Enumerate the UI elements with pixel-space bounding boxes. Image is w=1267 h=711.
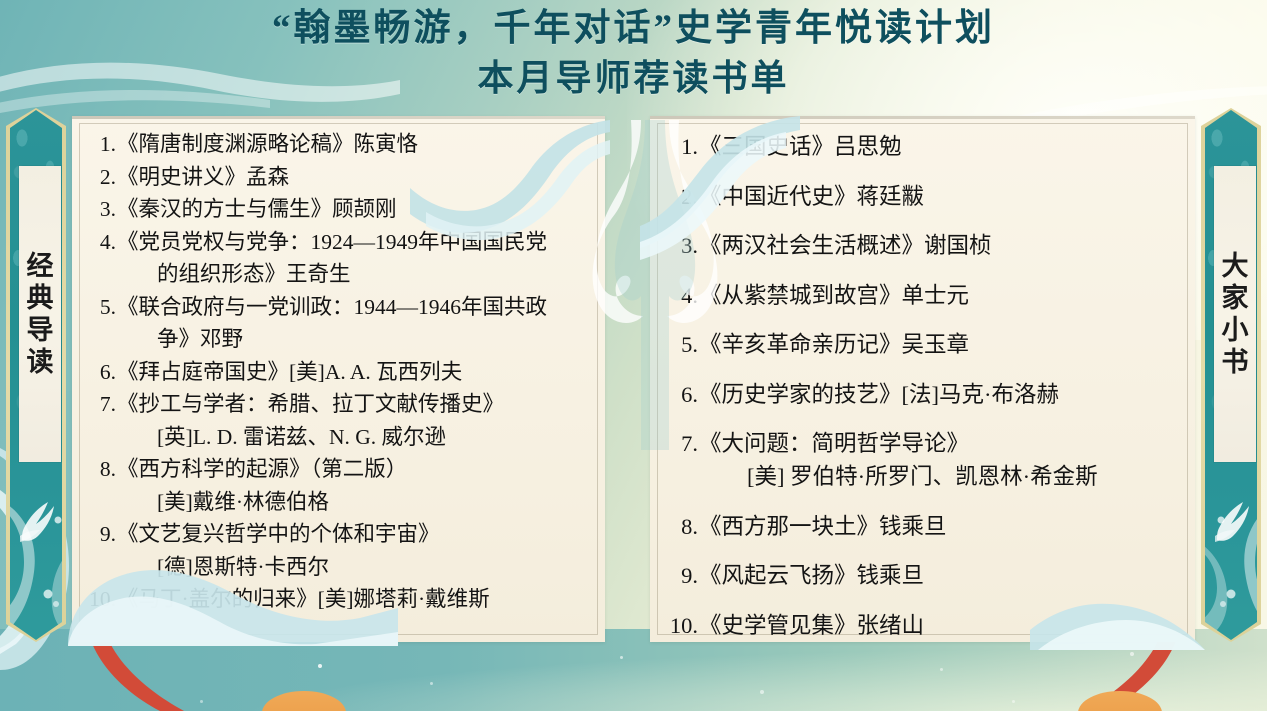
book-title-wrap: 《抄工与学者：希腊、拉丁文献传播史》[英]L. D. 雷诺兹、N. G. 威尔逊 bbox=[117, 388, 593, 453]
book-title: 《历史学家的技艺》[法]马克·布洛赫 bbox=[699, 382, 1059, 407]
right-banner-char-1: 大 bbox=[1222, 253, 1249, 280]
book-title-wrap: 《西方那一块土》钱乘旦 bbox=[699, 510, 1183, 543]
book-title: 《大问题：简明哲学导论》 bbox=[699, 431, 969, 456]
book-title-wrap: 《辛亥革命亲历记》吴玉章 bbox=[699, 328, 1183, 361]
book-index: 10. bbox=[664, 609, 698, 642]
book-index: 8. bbox=[664, 510, 698, 543]
right-banner-plaque: 大 家 小 书 bbox=[1214, 166, 1256, 462]
book-title: 《拜占庭帝国史》[美]A. A. 瓦西列夫 bbox=[117, 360, 462, 384]
book-index: 5. bbox=[664, 328, 698, 361]
book-title-wrap: 《西方科学的起源》（第二版）[美]戴维·林德伯格 bbox=[117, 453, 593, 518]
book-list-item: 10.《马丁·盖尔的归来》[美]娜塔莉·戴维斯 bbox=[86, 583, 593, 616]
book-title: 《马丁·盖尔的归来》[美]娜塔莉·戴维斯 bbox=[117, 587, 490, 611]
book-title: 《文艺复兴哲学中的个体和宇宙》 bbox=[117, 522, 440, 546]
book-index: 6. bbox=[86, 356, 116, 389]
left-book-panel: 1.《隋唐制度渊源略论稿》陈寅恪2.《明史讲义》孟森3.《秦汉的方士与儒生》顾颉… bbox=[72, 116, 605, 642]
book-title-wrap: 《秦汉的方士与儒生》顾颉刚 bbox=[117, 193, 593, 226]
book-index: 4. bbox=[664, 279, 698, 312]
book-title-continuation: 争》邓野 bbox=[117, 323, 593, 356]
book-title-wrap: 《史学管见集》张绪山 bbox=[699, 609, 1183, 642]
book-list-item: 8.《西方科学的起源》（第二版）[美]戴维·林德伯格 bbox=[86, 453, 593, 518]
book-list-item: 5.《联合政府与一党训政：1944—1946年国共政争》邓野 bbox=[86, 291, 593, 356]
book-title: 《秦汉的方士与儒生》顾颉刚 bbox=[117, 197, 397, 221]
book-title: 《风起云飞扬》钱乘旦 bbox=[699, 563, 924, 588]
book-index: 4. bbox=[86, 226, 116, 291]
book-index: 2. bbox=[86, 161, 116, 194]
book-title: 《史学管见集》张绪山 bbox=[699, 613, 924, 638]
right-book-list: 1.《三国史话》吕思勉2.《中国近代史》蒋廷黻3.《两汉社会生活概述》谢国桢4.… bbox=[664, 130, 1183, 634]
left-banner-char-4: 读 bbox=[27, 349, 54, 376]
book-list-item: 7.《抄工与学者：希腊、拉丁文献传播史》[英]L. D. 雷诺兹、N. G. 威… bbox=[86, 388, 593, 453]
book-list-item: 6.《拜占庭帝国史》[美]A. A. 瓦西列夫 bbox=[86, 356, 593, 389]
right-section-banner: 大 家 小 书 bbox=[1201, 108, 1261, 642]
right-banner-char-4: 书 bbox=[1222, 349, 1249, 376]
book-title: 《西方科学的起源》（第二版） bbox=[117, 457, 407, 481]
book-index: 6. bbox=[664, 378, 698, 411]
book-list-item: 9.《风起云飞扬》钱乘旦 bbox=[664, 559, 1183, 592]
book-title: 《党员党权与党争：1924—1949年中国国民党 bbox=[117, 230, 547, 254]
book-title-continuation: 的组织形态》王奇生 bbox=[117, 258, 593, 291]
right-banner-teal-body: 大 家 小 书 bbox=[1205, 108, 1257, 642]
book-index: 3. bbox=[86, 193, 116, 226]
book-list-item: 7.《大问题：简明哲学导论》[美] 罗伯特·所罗门、凯恩林·希金斯 bbox=[664, 427, 1183, 493]
left-section-banner: 经 典 导 读 bbox=[6, 108, 66, 642]
book-title: 《中国近代史》蒋廷黻 bbox=[699, 184, 924, 209]
book-title-wrap: 《文艺复兴哲学中的个体和宇宙》[德]恩斯特·卡西尔 bbox=[117, 518, 593, 583]
left-book-list: 1.《隋唐制度渊源略论稿》陈寅恪2.《明史讲义》孟森3.《秦汉的方士与儒生》顾颉… bbox=[86, 128, 593, 634]
book-index: 9. bbox=[664, 559, 698, 592]
book-title: 《辛亥革命亲历记》吴玉章 bbox=[699, 332, 969, 357]
right-panel-top-rule bbox=[650, 116, 1195, 119]
book-list-item: 1.《三国史话》吕思勉 bbox=[664, 130, 1183, 163]
right-banner-char-3: 小 bbox=[1222, 317, 1249, 344]
book-title-continuation: [美]戴维·林德伯格 bbox=[117, 486, 593, 519]
book-title: 《联合政府与一党训政：1944—1946年国共政 bbox=[117, 295, 547, 319]
book-title: 《抄工与学者：希腊、拉丁文献传播史》 bbox=[117, 392, 504, 416]
book-index: 3. bbox=[664, 229, 698, 262]
book-title-wrap: 《中国近代史》蒋廷黻 bbox=[699, 180, 1183, 213]
book-list-item: 3.《秦汉的方士与儒生》顾颉刚 bbox=[86, 193, 593, 226]
poster-title: “翰墨畅游，千年对话”史学青年悦读计划 本月导师荐读书单 bbox=[0, 4, 1267, 102]
left-banner-plaque: 经 典 导 读 bbox=[19, 166, 61, 462]
book-list-item: 3.《两汉社会生活概述》谢国桢 bbox=[664, 229, 1183, 262]
book-title-wrap: 《马丁·盖尔的归来》[美]娜塔莉·戴维斯 bbox=[117, 583, 593, 616]
title-line-1: “翰墨畅游，千年对话”史学青年悦读计划 bbox=[0, 4, 1267, 54]
left-banner-char-1: 经 bbox=[27, 253, 54, 280]
book-title-wrap: 《风起云飞扬》钱乘旦 bbox=[699, 559, 1183, 592]
book-title-wrap: 《明史讲义》孟森 bbox=[117, 161, 593, 194]
book-list-item: 6.《历史学家的技艺》[法]马克·布洛赫 bbox=[664, 378, 1183, 411]
book-title-wrap: 《党员党权与党争：1924—1949年中国国民党的组织形态》王奇生 bbox=[117, 226, 593, 291]
book-title: 《从紫禁城到故宫》单士元 bbox=[699, 283, 969, 308]
right-banner-char-2: 家 bbox=[1222, 285, 1249, 312]
book-title: 《三国史话》吕思勉 bbox=[699, 134, 902, 159]
book-title: 《西方那一块土》钱乘旦 bbox=[699, 514, 947, 539]
book-index: 10. bbox=[86, 583, 116, 616]
poster-root: “翰墨畅游，千年对话”史学青年悦读计划 本月导师荐读书单 经 典 导 读 bbox=[0, 0, 1267, 711]
book-index: 1. bbox=[86, 128, 116, 161]
book-list-item: 8.《西方那一块土》钱乘旦 bbox=[664, 510, 1183, 543]
book-title-wrap: 《大问题：简明哲学导论》[美] 罗伯特·所罗门、凯恩林·希金斯 bbox=[699, 427, 1183, 493]
right-book-panel: 1.《三国史话》吕思勉2.《中国近代史》蒋廷黻3.《两汉社会生活概述》谢国桢4.… bbox=[650, 116, 1195, 642]
book-list-item: 2.《中国近代史》蒋廷黻 bbox=[664, 180, 1183, 213]
book-list-item: 2.《明史讲义》孟森 bbox=[86, 161, 593, 194]
right-banner-wave-decor bbox=[1205, 472, 1257, 642]
book-index: 9. bbox=[86, 518, 116, 583]
book-list-item: 4.《从紫禁城到故宫》单士元 bbox=[664, 279, 1183, 312]
book-title-continuation: [美] 罗伯特·所罗门、凯恩林·希金斯 bbox=[699, 460, 1183, 493]
book-index: 1. bbox=[664, 130, 698, 163]
book-title: 《两汉社会生活概述》谢国桢 bbox=[699, 233, 992, 258]
book-list-item: 10.《史学管见集》张绪山 bbox=[664, 609, 1183, 642]
book-title-wrap: 《历史学家的技艺》[法]马克·布洛赫 bbox=[699, 378, 1183, 411]
book-list-item: 1.《隋唐制度渊源略论稿》陈寅恪 bbox=[86, 128, 593, 161]
book-title-continuation: [英]L. D. 雷诺兹、N. G. 威尔逊 bbox=[117, 421, 593, 454]
book-list-item: 9.《文艺复兴哲学中的个体和宇宙》[德]恩斯特·卡西尔 bbox=[86, 518, 593, 583]
book-title-continuation: [德]恩斯特·卡西尔 bbox=[117, 551, 593, 584]
book-index: 2. bbox=[664, 180, 698, 213]
book-title: 《明史讲义》孟森 bbox=[117, 165, 289, 189]
book-title-wrap: 《两汉社会生活概述》谢国桢 bbox=[699, 229, 1183, 262]
book-index: 5. bbox=[86, 291, 116, 356]
book-title-wrap: 《拜占庭帝国史》[美]A. A. 瓦西列夫 bbox=[117, 356, 593, 389]
left-banner-teal-body: 经 典 导 读 bbox=[10, 108, 62, 642]
book-title-wrap: 《联合政府与一党训政：1944—1946年国共政争》邓野 bbox=[117, 291, 593, 356]
left-panel-top-rule bbox=[72, 116, 605, 119]
left-banner-char-2: 典 bbox=[27, 285, 54, 312]
book-title-wrap: 《隋唐制度渊源略论稿》陈寅恪 bbox=[117, 128, 593, 161]
book-index: 7. bbox=[86, 388, 116, 453]
book-index: 8. bbox=[86, 453, 116, 518]
book-title: 《隋唐制度渊源略论稿》陈寅恪 bbox=[117, 132, 418, 156]
book-list-item: 5.《辛亥革命亲历记》吴玉章 bbox=[664, 328, 1183, 361]
left-banner-char-3: 导 bbox=[27, 317, 54, 344]
book-list-item: 4.《党员党权与党争：1924—1949年中国国民党的组织形态》王奇生 bbox=[86, 226, 593, 291]
title-line-2: 本月导师荐读书单 bbox=[0, 54, 1267, 102]
left-banner-wave-decor bbox=[10, 472, 62, 642]
book-title-wrap: 《从紫禁城到故宫》单士元 bbox=[699, 279, 1183, 312]
book-index: 7. bbox=[664, 427, 698, 493]
book-title-wrap: 《三国史话》吕思勉 bbox=[699, 130, 1183, 163]
